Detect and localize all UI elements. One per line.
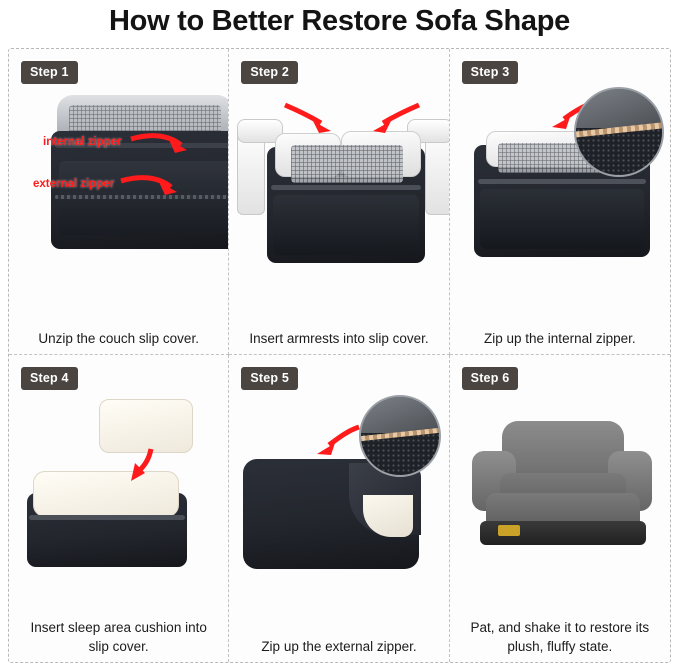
- internal-zipper-label: internal zipper: [43, 136, 122, 148]
- external-zipper-line: [29, 515, 185, 520]
- brand-tag-icon: [498, 525, 520, 536]
- step-badge-5: Step 5: [241, 367, 298, 390]
- step-cell-1: Step 1 internal zipper external zipper: [9, 49, 229, 356]
- step-caption-5: Zip up the external zipper.: [229, 638, 448, 656]
- external-zipper-label: external zipper: [33, 178, 114, 190]
- step-cell-2: Step 2 I: [229, 49, 449, 356]
- step-illustration-1: internal zipper external zipper: [9, 83, 228, 303]
- zoom-callout-icon: [359, 395, 441, 477]
- step-caption-2: Insert armrests into slip cover.: [229, 330, 448, 348]
- step-cell-6: Step 6 Pat, and shake it to restore its …: [450, 355, 670, 662]
- arrow-icon: [129, 131, 191, 157]
- step-caption-4: Insert sleep area cushion into slip cove…: [9, 619, 228, 655]
- step-badge-6: Step 6: [462, 367, 519, 390]
- zoom-callout-icon: [574, 87, 664, 177]
- step-badge-4: Step 4: [21, 367, 78, 390]
- step-caption-1: Unzip the couch slip cover.: [9, 330, 228, 348]
- steps-grid: Step 1 internal zipper external zipper: [8, 48, 671, 663]
- step-badge-2: Step 2: [241, 61, 298, 84]
- arrow-icon: [369, 101, 423, 135]
- callout-fabric-top: [361, 397, 439, 433]
- step-illustration-4: [9, 389, 228, 610]
- arrow-icon: [119, 173, 181, 199]
- internal-zipper-line: [271, 185, 421, 190]
- instruction-page: How to Better Restore Sofa Shape Step 1 …: [0, 0, 679, 667]
- page-title: How to Better Restore Sofa Shape: [0, 0, 679, 48]
- sleep-area-cushion: [99, 399, 193, 453]
- step-badge-1: Step 1: [21, 61, 78, 84]
- step-illustration-3: [450, 83, 670, 303]
- arrow-icon: [281, 101, 335, 135]
- step-badge-3: Step 3: [462, 61, 519, 84]
- slipcover-front-panel: [480, 189, 644, 249]
- callout-fabric-top: [576, 89, 662, 129]
- slipcover-front-panel: [273, 195, 419, 255]
- step-cell-4: Step 4 Insert sleep area cushion into sl…: [9, 355, 229, 662]
- step-cell-5: Step 5 Zip up the external zipper.: [229, 355, 449, 662]
- step-cell-3: Step 3 Zip up the internal zipper.: [450, 49, 670, 356]
- arrow-icon: [121, 447, 161, 487]
- step-caption-6: Pat, and shake it to restore its plush, …: [450, 619, 670, 655]
- internal-zipper-line: [478, 179, 646, 184]
- step-caption-3: Zip up the internal zipper.: [450, 330, 670, 348]
- mesh-panel-icon: [291, 145, 403, 183]
- arrow-icon: [313, 423, 365, 457]
- step-illustration-2: [229, 83, 448, 303]
- step-illustration-6: [450, 389, 670, 610]
- step-illustration-5: [229, 389, 448, 610]
